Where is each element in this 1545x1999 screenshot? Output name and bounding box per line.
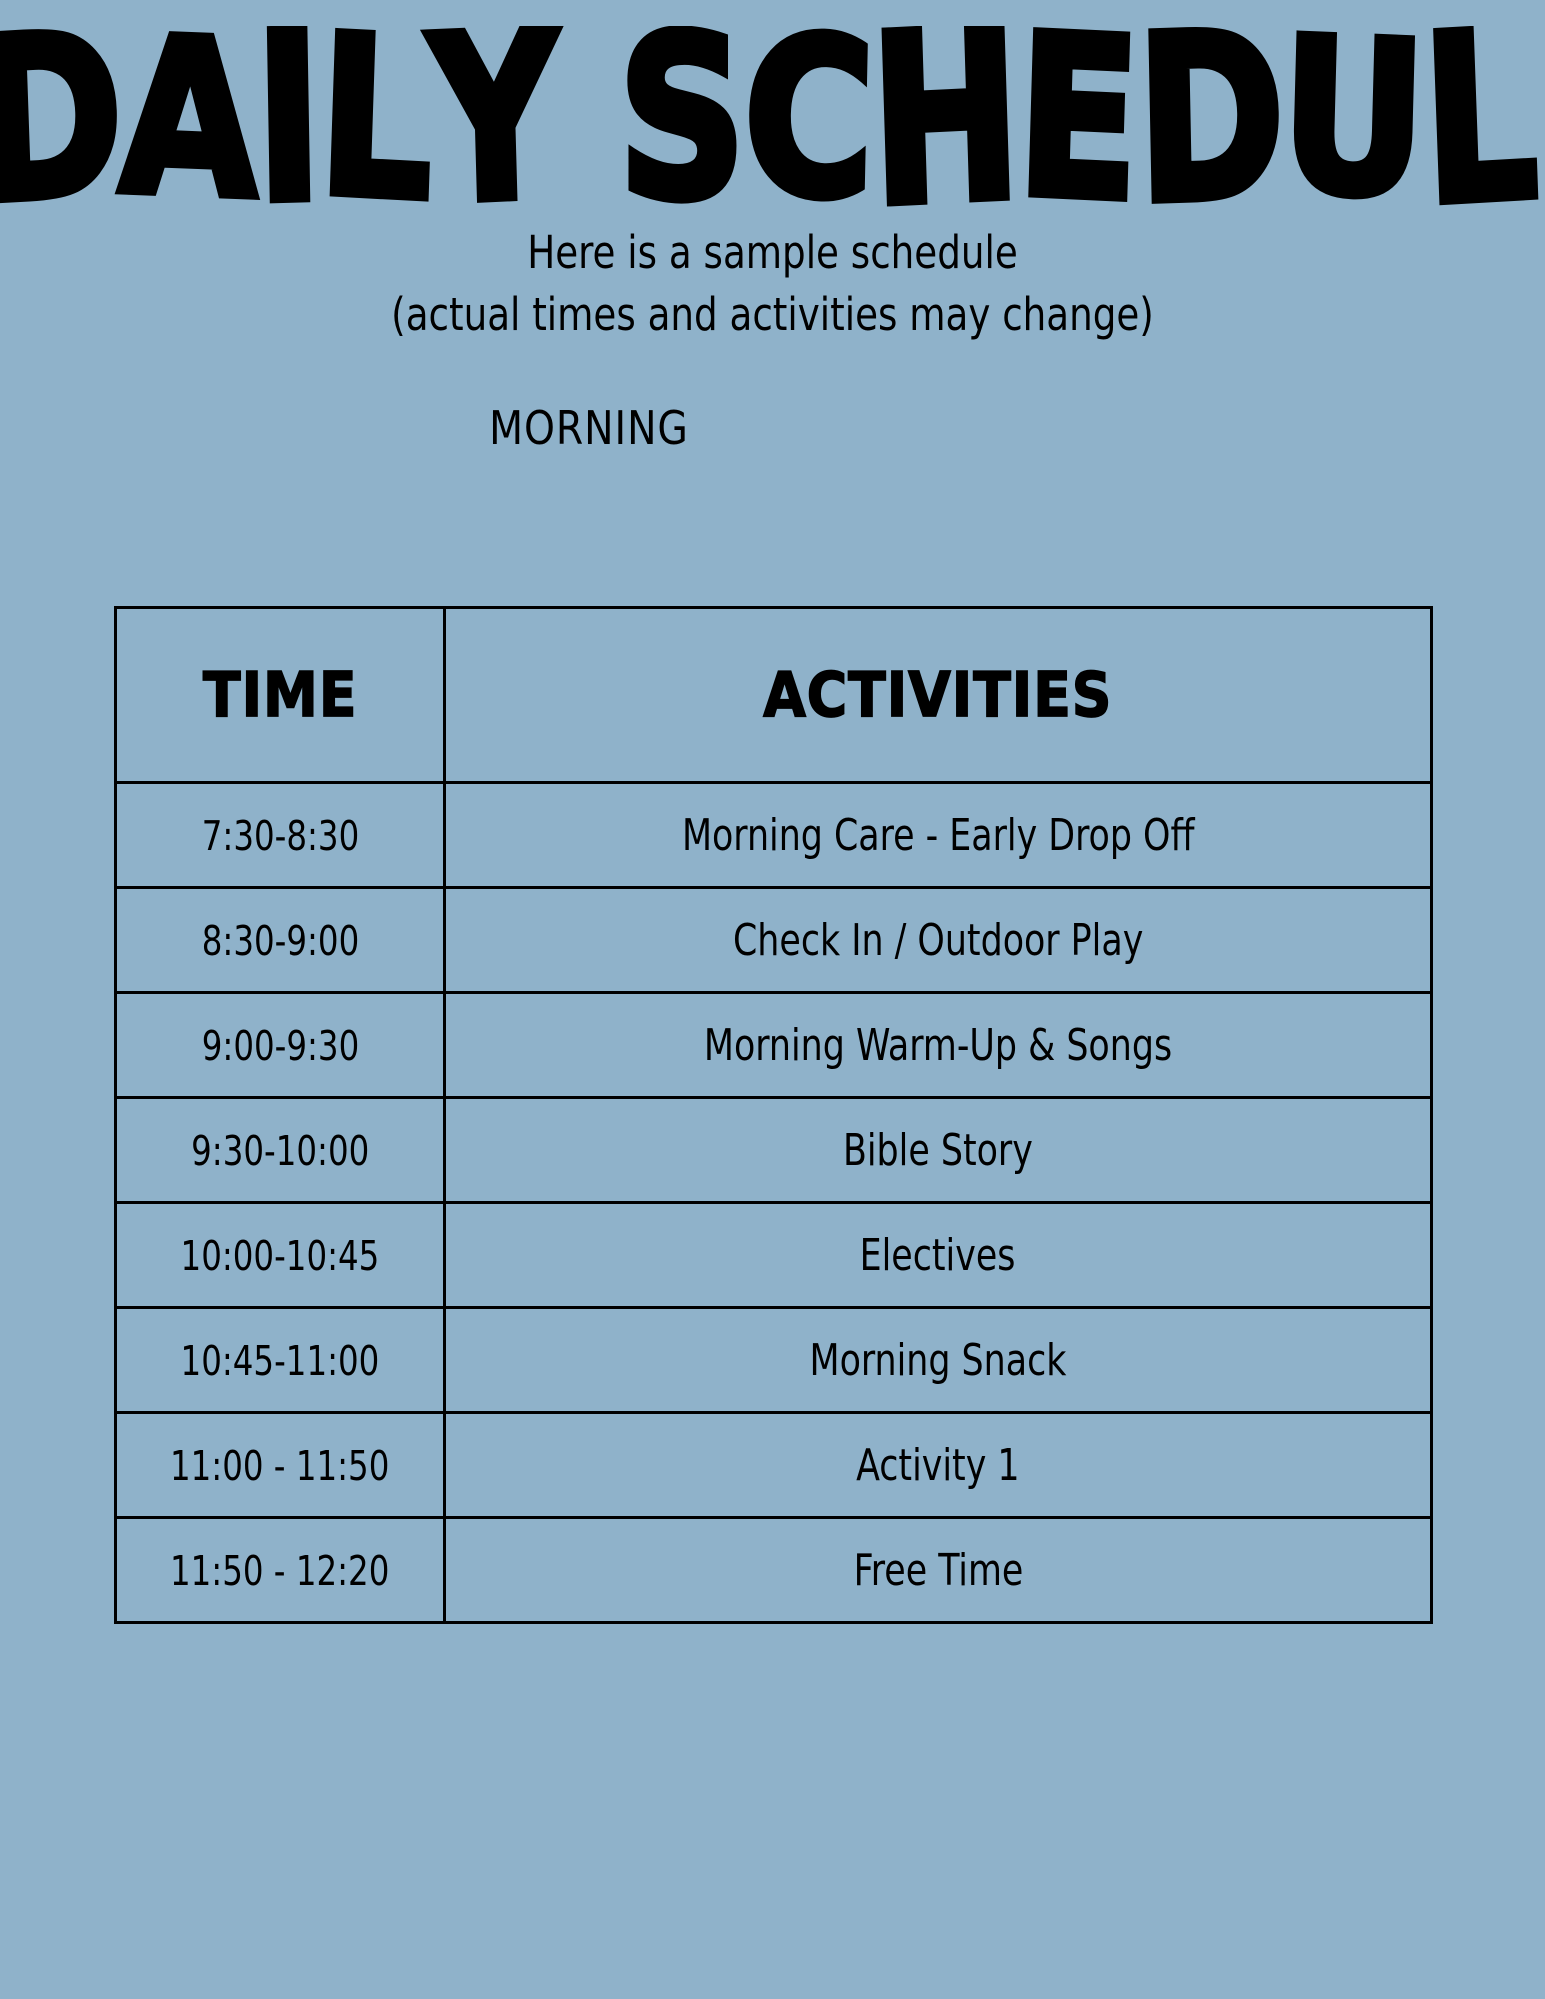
subtitle-line-1: Here is a sample schedule [62, 222, 1483, 284]
cell-activity-text: Free Time [853, 1545, 1023, 1596]
table-row: 7:30-8:30Morning Care - Early Drop Off [116, 783, 1432, 888]
cell-time-text: 9:00-9:30 [201, 1022, 358, 1070]
cell-activity-text: Check In / Outdoor Play [733, 915, 1143, 966]
table-row: 10:00-10:45Electives [116, 1203, 1432, 1308]
title-glyph: H [868, 26, 1022, 211]
page-title: DAILY SCHEDULE [0, 26, 1545, 211]
cell-activity-text: Electives [860, 1230, 1016, 1281]
table-row: 8:30-9:00Check In / Outdoor Play [116, 888, 1432, 993]
title-glyph: L [316, 26, 435, 211]
column-header-time-label: TIME [203, 659, 357, 731]
cell-time-text: 10:00-10:45 [181, 1232, 380, 1280]
title-glyph: D [0, 26, 125, 211]
cell-time: 11:50 - 12:20 [116, 1518, 445, 1623]
page-title-text: DAILY SCHEDULE [0, 26, 1545, 211]
title-glyph: D [1135, 26, 1285, 211]
title-glyph: I [254, 26, 322, 211]
table-header-row: TIME ACTIVITIES [116, 608, 1432, 783]
cell-activity: Morning Warm-Up & Songs [445, 993, 1432, 1098]
cell-time-text: 11:00 - 11:50 [170, 1442, 389, 1490]
title-glyph: C [741, 26, 874, 211]
subtitle-line-2: (actual times and activities may change) [62, 284, 1483, 346]
cell-time: 9:00-9:30 [116, 993, 445, 1098]
table-row: 11:00 - 11:50Activity 1 [116, 1413, 1432, 1518]
cell-activity: Morning Care - Early Drop Off [445, 783, 1432, 888]
cell-time: 9:30-10:00 [116, 1098, 445, 1203]
table-row: 10:45-11:00Morning Snack [116, 1308, 1432, 1413]
table-row: 9:30-10:00Bible Story [116, 1098, 1432, 1203]
cell-time-text: 8:30-9:00 [201, 917, 358, 965]
cell-activity-text: Morning Care - Early Drop Off [682, 810, 1195, 861]
schedule-table-head: TIME ACTIVITIES [116, 608, 1432, 783]
cell-activity-text: Bible Story [843, 1125, 1033, 1176]
title-glyph: A [118, 26, 259, 211]
table-row: 9:00-9:30Morning Warm-Up & Songs [116, 993, 1432, 1098]
cell-time: 7:30-8:30 [116, 783, 445, 888]
cell-time-text: 7:30-8:30 [201, 812, 358, 860]
cell-activity: Morning Snack [445, 1308, 1432, 1413]
cell-activity-text: Activity 1 [856, 1440, 1019, 1491]
title-glyph: E [1015, 26, 1141, 211]
cell-time-text: 9:30-10:00 [191, 1127, 369, 1175]
cell-time: 8:30-9:00 [116, 888, 445, 993]
title-glyph: U [1279, 26, 1427, 211]
title-glyph: L [1419, 26, 1539, 211]
cell-time: 11:00 - 11:50 [116, 1413, 445, 1518]
cell-activity: Free Time [445, 1518, 1432, 1623]
column-header-activities-label: ACTIVITIES [763, 659, 1112, 731]
column-header-activities: ACTIVITIES [445, 608, 1432, 783]
cell-time-text: 10:45-11:00 [181, 1337, 380, 1385]
cell-time: 10:00-10:45 [116, 1203, 445, 1308]
section-label-morning: MORNING [138, 400, 1041, 456]
page-subtitle: Here is a sample schedule (actual times … [0, 222, 1545, 346]
title-glyph [557, 26, 619, 211]
cell-activity: Electives [445, 1203, 1432, 1308]
cell-activity: Check In / Outdoor Play [445, 888, 1432, 993]
cell-activity-text: Morning Snack [810, 1335, 1067, 1386]
title-glyph: E [1533, 26, 1545, 211]
cell-activity-text: Morning Warm-Up & Songs [704, 1020, 1172, 1071]
cell-activity: Bible Story [445, 1098, 1432, 1203]
title-glyph: Y [427, 26, 560, 211]
table-row: 11:50 - 12:20Free Time [116, 1518, 1432, 1623]
column-header-time: TIME [116, 608, 445, 783]
title-glyph: S [618, 26, 744, 211]
cell-time-text: 11:50 - 12:20 [170, 1547, 389, 1595]
schedule-table-body: 7:30-8:30Morning Care - Early Drop Off8:… [116, 783, 1432, 1623]
cell-time: 10:45-11:00 [116, 1308, 445, 1413]
schedule-table: TIME ACTIVITIES 7:30-8:30Morning Care - … [114, 606, 1433, 1624]
cell-activity: Activity 1 [445, 1413, 1432, 1518]
